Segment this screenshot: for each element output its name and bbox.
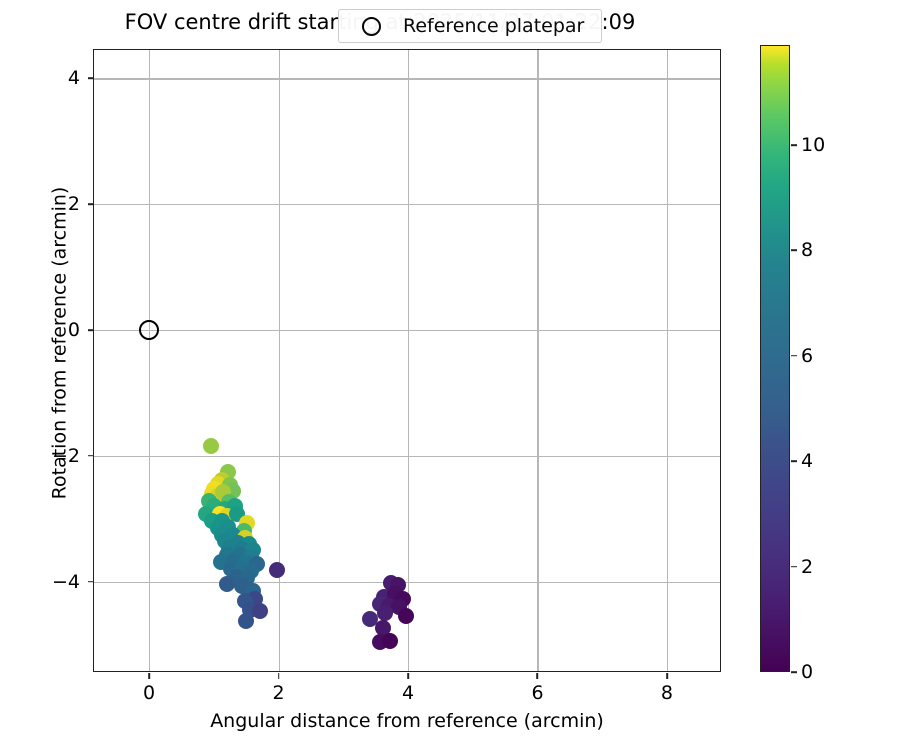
gridline-horizontal — [94, 204, 720, 205]
gridline-horizontal — [94, 582, 720, 583]
x-tick-label: 8 — [661, 682, 673, 704]
colorbar-tick — [791, 250, 797, 252]
plot-axes: 02468420−2−4 — [93, 49, 721, 672]
legend: Reference platepar — [338, 9, 602, 43]
colorbar-tick-label: 8 — [801, 239, 813, 261]
y-tick — [88, 329, 94, 331]
reference-platepar-marker-icon — [362, 17, 381, 36]
gridline-vertical — [537, 50, 538, 671]
x-tick-label: 0 — [143, 682, 155, 704]
colorbar-tick — [791, 460, 797, 462]
colorbar-tick-label: 6 — [801, 345, 813, 367]
scatter-point — [252, 603, 268, 619]
colorbar-tick-label: 2 — [801, 556, 813, 578]
y-tick — [88, 455, 94, 457]
colorbar-tick-label: 4 — [801, 450, 813, 472]
legend-label-reference-platepar: Reference platepar — [403, 15, 592, 37]
gridline-horizontal — [94, 78, 720, 79]
scatter-point — [219, 576, 235, 592]
colorbar-tick — [791, 355, 797, 357]
x-tick — [278, 673, 280, 679]
gridline-vertical — [408, 50, 409, 671]
x-tick — [148, 673, 150, 679]
scatter-point — [382, 633, 398, 649]
colorbar-tick — [791, 671, 797, 673]
x-tick-label: 2 — [272, 682, 284, 704]
gridline-vertical — [149, 50, 150, 671]
gridline-horizontal — [94, 456, 720, 457]
scatter-point — [398, 608, 414, 624]
colorbar-tick — [791, 566, 797, 568]
x-tick-label: 6 — [531, 682, 543, 704]
x-axis-title: Angular distance from reference (arcmin) — [93, 710, 721, 732]
x-tick — [666, 673, 668, 679]
gridline-vertical — [667, 50, 668, 671]
colorbar-tick — [791, 144, 797, 146]
y-tick — [88, 78, 94, 80]
reference-platepar-point — [139, 320, 159, 340]
colorbar-tick-label: 10 — [801, 134, 825, 156]
y-axis-title: Rotation from reference (arcmin) — [49, 32, 71, 655]
x-tick — [537, 673, 539, 679]
y-tick — [88, 581, 94, 583]
scatter-point — [238, 613, 254, 629]
x-tick — [407, 673, 409, 679]
gridline-horizontal — [94, 330, 720, 331]
scatter-point — [203, 438, 219, 454]
colorbar — [760, 45, 790, 672]
y-tick — [88, 203, 94, 205]
colorbar-tick-label: 0 — [801, 661, 813, 683]
scatter-point — [269, 562, 285, 578]
x-tick-label: 4 — [402, 682, 414, 704]
figure-canvas: FOV centre drift starting at 2025/11/27 … — [0, 0, 900, 750]
plot-area — [94, 50, 720, 671]
